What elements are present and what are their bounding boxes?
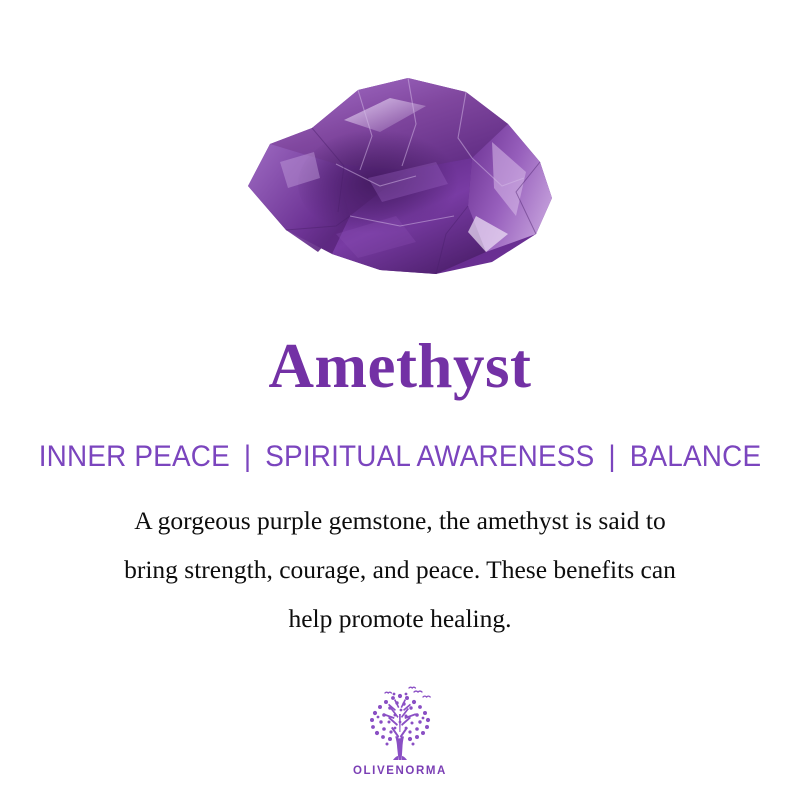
description-line: A gorgeous purple gemstone, the amethyst… [44,496,756,545]
keyword-separator: | [596,440,628,474]
amethyst-product-card: Amethyst INNER PEACE | SPIRITUAL AWARENE… [0,0,800,800]
keyword-inner-peace: INNER PEACE [37,440,232,474]
gemstone-image-container [0,66,800,301]
tree-of-life-icon [357,686,443,762]
raw-amethyst-crystal-icon [240,66,560,286]
keyword-list: INNER PEACE | SPIRITUAL AWARENESS | BALA… [28,440,772,474]
keyword-separator: | [232,440,264,474]
description-line: bring strength, courage, and peace. Thes… [44,545,756,594]
keyword-balance: BALANCE [628,440,763,474]
description-line: help promote healing. [44,594,756,643]
brand-name: OLIVENORMA [353,765,447,777]
brand-logo[interactable]: OLIVENORMA [0,686,800,777]
birds-icon [385,687,430,697]
keyword-spiritual-awareness: SPIRITUAL AWARENESS [263,440,596,474]
description-text: A gorgeous purple gemstone, the amethyst… [44,496,756,643]
page-title: Amethyst [0,334,800,398]
